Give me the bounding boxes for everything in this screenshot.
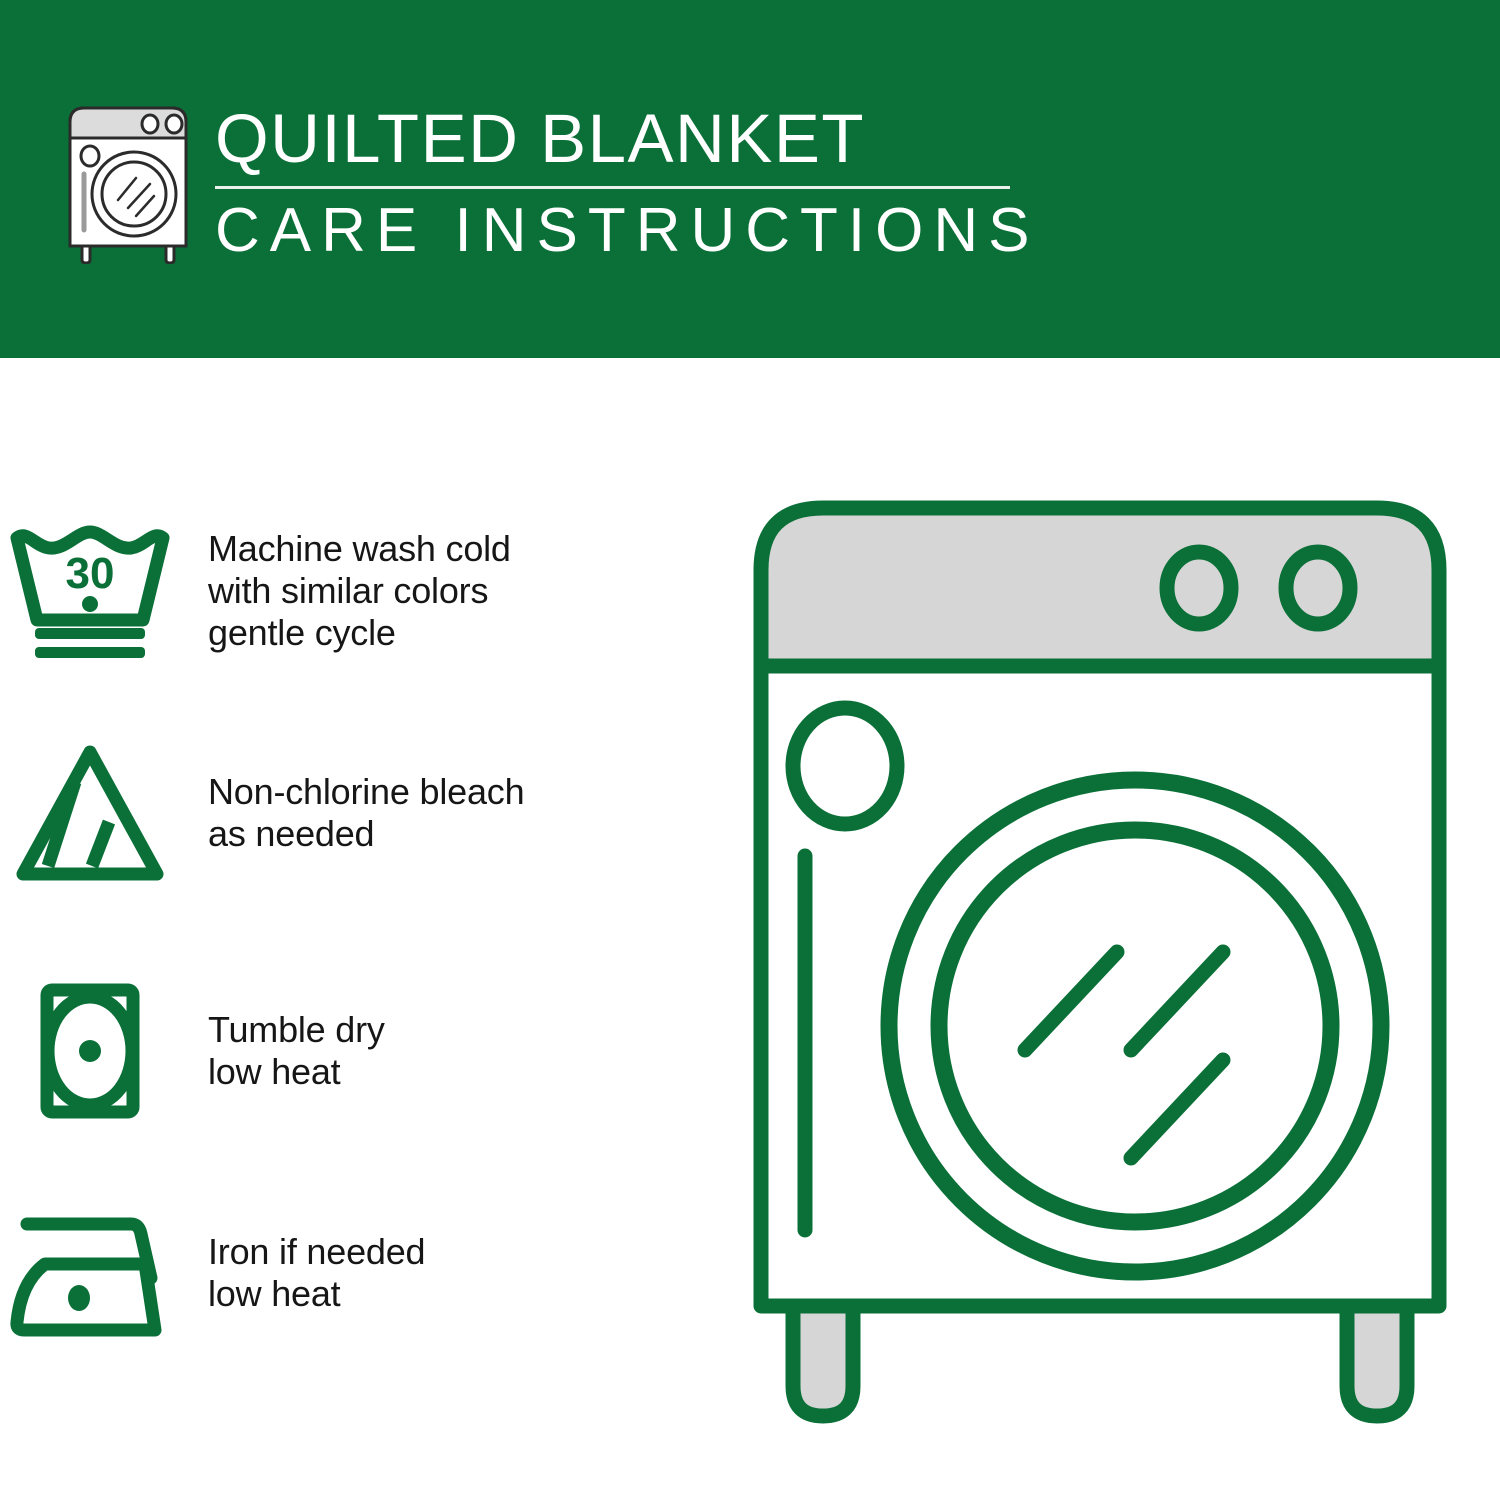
washing-machine-icon bbox=[62, 104, 194, 264]
machine-wash-30-icon: 30 bbox=[0, 506, 180, 676]
header-banner: QUILTED BLANKET CARE INSTRUCTIONS bbox=[0, 0, 1500, 358]
care-row-iron: Iron if needed low heat bbox=[0, 1188, 720, 1358]
care-row-tumble-dry: Tumble dry low heat bbox=[0, 966, 720, 1136]
care-row-machine-wash: 30 Machine wash cold with similar colors… bbox=[0, 506, 720, 676]
door-outer-ring bbox=[889, 780, 1381, 1272]
machine-foot bbox=[793, 1306, 853, 1416]
care-text-machine-wash: Machine wash cold with similar colors ge… bbox=[180, 528, 511, 654]
care-instructions-page: QUILTED BLANKET CARE INSTRUCTIONS 30 bbox=[0, 0, 1500, 1500]
care-text-bleach: Non-chlorine bleach as needed bbox=[180, 771, 524, 855]
care-text-line: Tumble dry bbox=[208, 1009, 385, 1051]
washing-machine-illustration bbox=[735, 470, 1465, 1430]
care-row-bleach: Non-chlorine bleach as needed bbox=[0, 728, 720, 898]
door-streak-line bbox=[1131, 952, 1223, 1050]
care-instruction-list: 30 Machine wash cold with similar colors… bbox=[0, 358, 720, 1500]
page-title: QUILTED BLANKET bbox=[215, 100, 1025, 178]
care-text-line: low heat bbox=[208, 1273, 425, 1315]
tumble-dry-low-icon bbox=[0, 966, 180, 1136]
care-text-line: as needed bbox=[208, 813, 524, 855]
care-text-line: Machine wash cold bbox=[208, 528, 511, 570]
care-text-line: with similar colors bbox=[208, 570, 511, 612]
care-text-iron: Iron if needed low heat bbox=[180, 1231, 425, 1315]
machine-foot bbox=[1347, 1306, 1407, 1416]
door-streak-line bbox=[1131, 1060, 1223, 1158]
non-chlorine-bleach-triangle-icon bbox=[0, 728, 180, 898]
iron-low-heat-icon bbox=[0, 1188, 180, 1358]
care-text-line: gentle cycle bbox=[208, 612, 511, 654]
page-subtitle: CARE INSTRUCTIONS bbox=[215, 195, 1025, 267]
care-text-tumble-dry: Tumble dry low heat bbox=[180, 1009, 385, 1093]
control-panel-fill bbox=[761, 508, 1439, 666]
care-text-line: Non-chlorine bleach bbox=[208, 771, 524, 813]
door-streak-line bbox=[1025, 952, 1117, 1050]
indicator-circle-icon bbox=[793, 708, 897, 824]
care-text-line: Iron if needed bbox=[208, 1231, 425, 1273]
title-divider bbox=[215, 186, 1010, 189]
header-title-block: QUILTED BLANKET CARE INSTRUCTIONS bbox=[215, 100, 1025, 267]
wash-temperature-label: 30 bbox=[66, 549, 115, 598]
care-text-line: low heat bbox=[208, 1051, 385, 1093]
